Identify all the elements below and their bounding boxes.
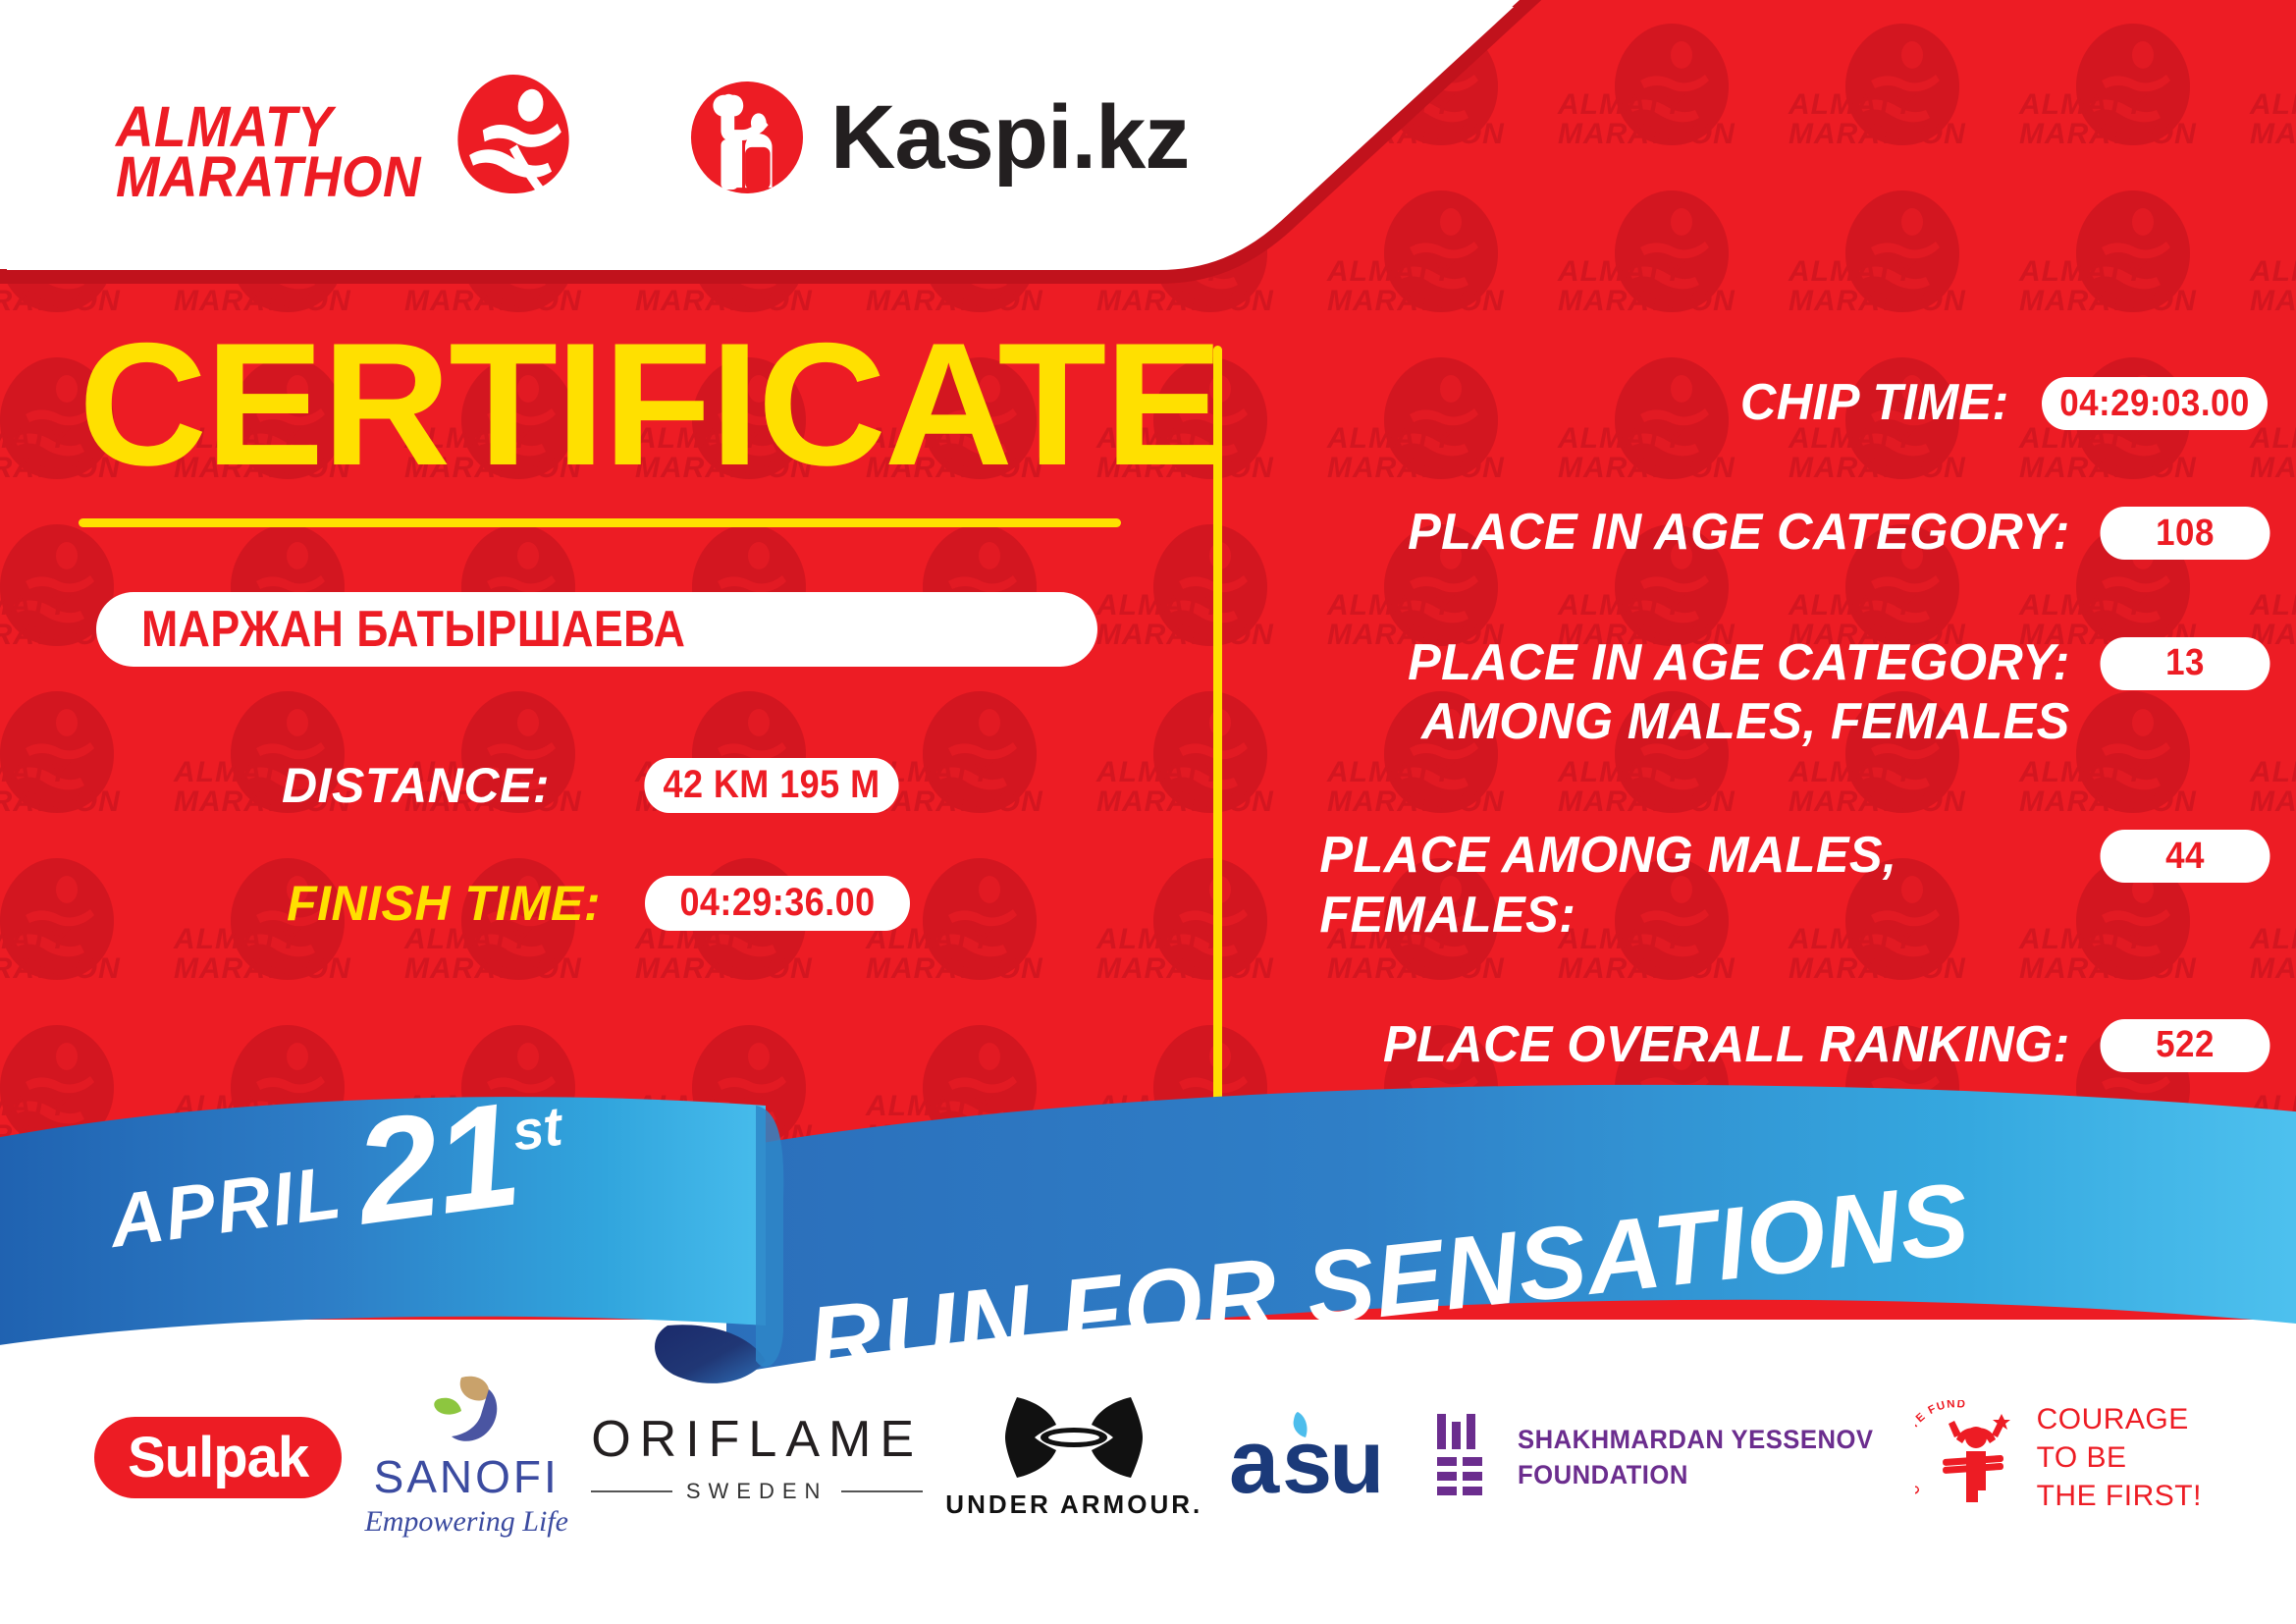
chip-time-label: CHIP TIME:: [1318, 373, 2033, 432]
place-age-category-row: PLACE IN AGE CATEGORY: 108: [1296, 503, 2277, 562]
ribbon-day: 21: [349, 1094, 523, 1231]
corporate-fund-curved-text: CORPORATE FUND: [1915, 1400, 1967, 1496]
left-stats: DISTANCE: 42 KM 195 M FINISH TIME: 04:29…: [0, 743, 1178, 946]
place-age-category-value: 108: [2101, 507, 2270, 560]
participant-name-field: МАРЖАН БАТЫРШАЕВА: [96, 592, 1097, 667]
ribbon-day-suffix: st: [508, 1094, 565, 1164]
oriflame-rule-right: [841, 1490, 923, 1492]
almaty-marathon-wordmark: ALMATY MARATHON: [116, 102, 421, 202]
oriflame-wordmark-icon: ORIFLAME: [591, 1410, 923, 1469]
finish-time-label: FINISH TIME:: [0, 875, 601, 932]
sponsor-logos: Sulpak SANOFI Empowering Life ORIFLAME S…: [0, 1329, 2296, 1624]
place-overall-value: 522: [2101, 1019, 2270, 1072]
yessenov-line-1: SHAKHMARDAN YESSENOV: [1518, 1422, 1873, 1457]
courage-line-3: THE FIRST!: [2037, 1477, 2202, 1515]
sponsor-oriflame: ORIFLAME SWEDEN: [591, 1410, 923, 1504]
runner-drop-icon: [455, 73, 571, 195]
sponsor-sulpak: Sulpak: [94, 1417, 342, 1498]
asu-wordmark-icon: a su: [1225, 1402, 1412, 1512]
sanofi-swoosh-icon: [424, 1376, 508, 1448]
right-column-results: CHIP TIME: 04:29:03.00 PLACE IN AGE CATE…: [1296, 373, 2277, 1119]
left-column: CERTIFICATE МАРЖАН БАТЫРШАЕВА DISTANCE: …: [0, 324, 1178, 946]
sponsor-sanofi: SANOFI Empowering Life: [364, 1376, 568, 1539]
almaty-marathon-logo: ALMATY MARATHON: [116, 73, 571, 203]
oriflame-subtitle: SWEDEN: [686, 1479, 828, 1504]
sponsor-asu: a su: [1225, 1402, 1412, 1512]
marathon-line: MARATHON: [116, 152, 421, 202]
title-underline: [79, 518, 1121, 527]
participant-name: МАРЖАН БАТЫРШАЕВА: [141, 600, 685, 659]
under-armour-wordmark: UNDER ARMOUR.: [945, 1489, 1202, 1520]
kaspi-logo: Kaspi.kz: [689, 80, 1189, 195]
chip-time-value: 04:29:03.00: [2042, 377, 2268, 430]
svg-text:CORPORATE FUND: CORPORATE FUND: [1915, 1400, 1967, 1496]
sponsor-yessenov-foundation: SHAKHMARDAN YESSENOV FOUNDATION: [1435, 1412, 1893, 1502]
place-age-category-gender-value: 13: [2101, 637, 2270, 690]
place-age-category-label: PLACE IN AGE CATEGORY:: [1319, 503, 2093, 562]
header-logos: ALMATY MARATHON Kaspi.kz: [0, 0, 1178, 275]
sulpak-wordmark-icon: Sulpak: [128, 1425, 308, 1490]
place-age-category-gender-label: PLACE IN AGE CATEGORY: AMONG MALES, FEMA…: [1319, 633, 2093, 752]
page-title: CERTIFICATE: [79, 324, 1200, 485]
oriflame-rule-left: [591, 1490, 672, 1492]
place-among-gender-row: PLACE AMONG MALES, FEMALES: 44: [1296, 826, 2277, 945]
kaspi-wordmark: Kaspi.kz: [830, 86, 1189, 189]
yessenov-bars-icon: [1435, 1412, 1496, 1502]
finish-time-value: 04:29:36.00: [645, 876, 910, 931]
label-line-2: FEMALES:: [1319, 886, 2069, 945]
sponsor-courage-to-be-first: CORPORATE FUND COURAGE TO BE THE FIRST!: [1915, 1400, 2202, 1515]
distance-value: 42 KM 195 M: [644, 758, 898, 813]
label-line-1: PLACE AMONG MALES,: [1319, 826, 2069, 885]
courage-line-2: TO BE: [2037, 1438, 2202, 1477]
under-armour-logo-icon: [1001, 1395, 1147, 1480]
svg-text:a: a: [1229, 1412, 1280, 1512]
place-among-gender-label: PLACE AMONG MALES, FEMALES:: [1319, 826, 2093, 945]
label-line-2: AMONG MALES, FEMALES: [1319, 692, 2069, 751]
place-among-gender-value: 44: [2101, 830, 2270, 883]
courage-runner-icon: CORPORATE FUND: [1915, 1400, 2029, 1514]
place-age-category-gender-row: PLACE IN AGE CATEGORY: AMONG MALES, FEMA…: [1296, 633, 2277, 752]
label-line-1: PLACE IN AGE CATEGORY:: [1319, 633, 2069, 692]
courage-line-1: COURAGE: [2037, 1400, 2202, 1438]
certificate-canvas: ALMATY MARATHON: [0, 0, 2296, 1624]
yessenov-line-2: FOUNDATION: [1518, 1457, 1873, 1492]
place-overall-row: PLACE OVERALL RANKING: 522: [1296, 1015, 2277, 1074]
sanofi-name: SANOFI: [374, 1450, 560, 1503]
chip-time-row: CHIP TIME: 04:29:03.00: [1296, 373, 2277, 432]
kaspi-family-circle-icon: [689, 80, 805, 195]
sponsor-under-armour: UNDER ARMOUR.: [945, 1395, 1202, 1520]
distance-row: DISTANCE: 42 KM 195 M: [0, 743, 1178, 828]
sanofi-tagline: Empowering Life: [364, 1505, 568, 1539]
place-overall-label: PLACE OVERALL RANKING:: [1319, 1015, 2093, 1074]
finish-time-row: FINISH TIME: 04:29:36.00: [0, 861, 1178, 946]
distance-label: DISTANCE:: [0, 757, 550, 814]
